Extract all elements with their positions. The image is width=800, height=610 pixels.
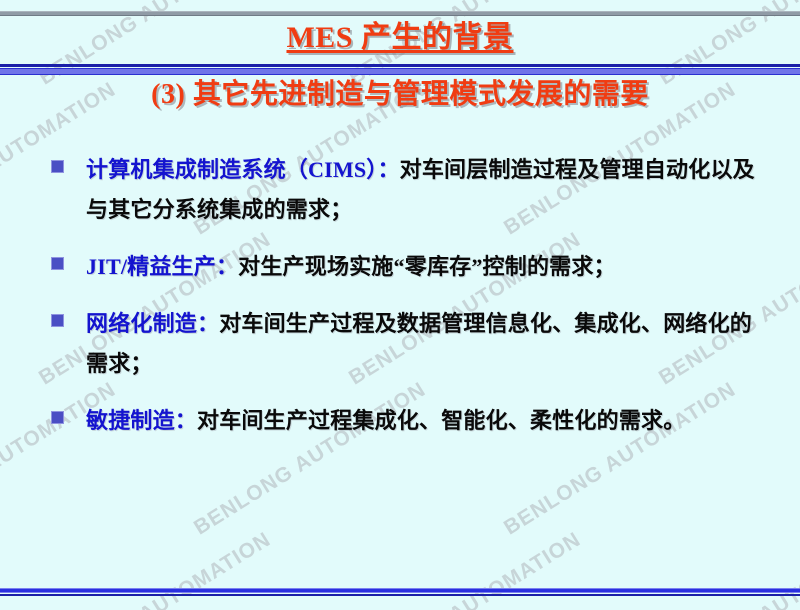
square-bullet-icon (51, 314, 64, 327)
watermark-text: BENLONG AUTOMATION (655, 528, 800, 610)
watermark-text: BENLONG AUTOMATION (345, 528, 585, 610)
title-divider-blue-rule (0, 68, 800, 75)
list-item: 计算机集成制造系统（CIMS）：对车间层制造过程及管理自动化以及与其它分系统集成… (48, 150, 758, 230)
bullet-lead: JIT/精益生产： (86, 254, 238, 279)
top-gray-rule (0, 11, 800, 16)
list-item: JIT/精益生产：对生产现场实施“零库存”控制的需求； (48, 247, 758, 287)
bullet-text: JIT/精益生产：对生产现场实施“零库存”控制的需求； (86, 254, 616, 279)
subtitle-block: (3) 其它先进制造与管理模式发展的需要 (0, 78, 800, 112)
bottom-navy-rule (0, 594, 800, 596)
bullet-text: 计算机集成制造系统（CIMS）：对车间层制造过程及管理自动化以及与其它分系统集成… (86, 157, 755, 222)
list-item: 网络化制造：对车间生产过程及数据管理信息化、集成化、网络化的需求； (48, 304, 758, 384)
title-divider-navy-rule (0, 64, 800, 67)
bullet-lead: 计算机集成制造系统（CIMS）： (86, 157, 400, 182)
bullet-rest: 对车间生产过程集成化、智能化、柔性化的需求。 (197, 408, 685, 433)
square-bullet-icon (51, 257, 64, 270)
square-bullet-icon (51, 411, 64, 424)
list-item: 敏捷制造：对车间生产过程集成化、智能化、柔性化的需求。 (48, 401, 758, 441)
bullet-lead: 网络化制造： (86, 311, 219, 336)
bullet-list: 计算机集成制造系统（CIMS）：对车间层制造过程及管理自动化以及与其它分系统集成… (48, 150, 758, 458)
bottom-blue-rule (0, 588, 800, 593)
presentation-slide: BENLONG AUTOMATIONBENLONG AUTOMATIONBENL… (0, 0, 800, 610)
title-block: MES 产生的背景 (0, 20, 800, 56)
watermark-text: BENLONG AUTOMATION (35, 528, 275, 610)
page-subtitle: (3) 其它先进制造与管理模式发展的需要 (151, 78, 649, 112)
bullet-rest: 对生产现场实施“零库存”控制的需求； (238, 254, 616, 279)
bullet-lead: 敏捷制造： (86, 408, 197, 433)
page-title: MES 产生的背景 (286, 20, 513, 56)
square-bullet-icon (51, 160, 64, 173)
bullet-text: 网络化制造：对车间生产过程及数据管理信息化、集成化、网络化的需求； (86, 311, 752, 376)
bullet-text: 敏捷制造：对车间生产过程集成化、智能化、柔性化的需求。 (86, 408, 685, 433)
